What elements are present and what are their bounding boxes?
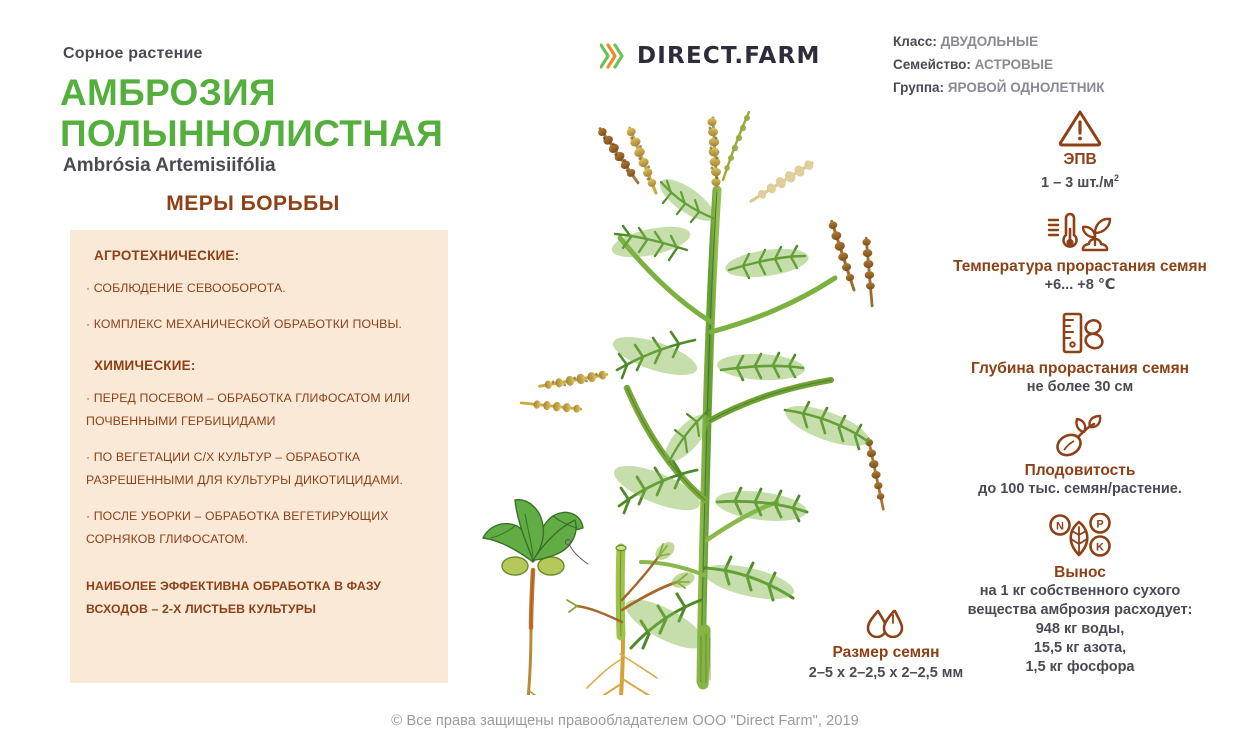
ruler-seeds-icon [1049,311,1111,357]
fact-label: Глубина прорастания семян [930,359,1230,378]
classification-value: ЯРОВОЙ ОДНОЛЕТНИК [948,80,1105,95]
fact-label: Температура прорастания семян [930,257,1230,276]
fact-value: до 100 тыс. семян/растение. [930,480,1230,499]
fact-label: Плодовитость [930,461,1230,480]
fact-value-superscript: 2 [1114,173,1119,183]
left-column: Сорное растение АМБРОЗИЯ ПОЛЫННОЛИСТНАЯ … [0,0,470,749]
seed-drops-icon [863,608,909,638]
footer-text: Все права защищены правообладателем ООО … [406,713,858,729]
brand-logo-text: DIRECT.FARM [637,43,821,69]
infographic-page: Сорное растение АМБРОЗИЯ ПОЛЫННОЛИСТНАЯ … [0,0,1250,749]
measures-heading: МЕРЫ БОРЬБЫ [63,192,443,216]
agro-item: · КОМПЛЕКС МЕХАНИЧЕСКОЙ ОБРАБОТКИ ПОЧВЫ. [86,313,428,336]
classification-row-class: Класс: ДВУДОЛЬНЫЕ [893,30,1233,53]
fact-label: ЭПВ [930,150,1230,169]
fact-fertility: Плодовитость до 100 тыс. семян/растение. [930,413,1230,499]
svg-text:N: N [1056,520,1064,532]
fact-germination-depth: Глубина прорастания семян не более 30 см [930,311,1230,397]
fact-value-text: 1 – 3 шт./м [1041,175,1114,191]
fact-value-line: на 1 кг собственного сухого [930,582,1230,601]
chem-item: · ПЕРЕД ПОСЕВОМ – ОБРАБОТКА ГЛИФОСАТОМ И… [86,387,428,433]
fact-value: +6... +8 ℃ [930,276,1230,295]
chem-subtitle: ХИМИЧЕСКИЕ: [94,358,428,373]
chem-item: · ПО ВЕГЕТАЦИИ С/Х КУЛЬТУР – ОБРАБОТКА Р… [86,446,428,492]
chem-item: · ПОСЛЕ УБОРКИ – ОБРАБОТКА ВЕГЕТИРУЮЩИХ … [86,505,428,551]
agro-subtitle: АГРОТЕХНИЧЕСКИЕ: [94,248,428,263]
sprouting-seed-icon [1050,413,1110,459]
classification-block: Класс: ДВУДОЛЬНЫЕ Семейство: АСТРОВЫЕ Гр… [893,30,1233,99]
fact-germination-temperature: Температура прорастания семян +6... +8 ℃ [930,211,1230,295]
measures-note: НАИБОЛЕЕ ЭФФЕКТИВНА ОБРАБОТКА В ФАЗУ ВСХ… [86,575,428,621]
classification-value: АСТРОВЫЕ [975,57,1053,72]
copyright-icon: © [391,712,402,729]
classification-label: Класс: [893,34,937,49]
fact-value: не более 30 см [930,378,1230,397]
fact-value: 1 – 3 шт./м2 [930,169,1230,193]
fact-seed-size: Размер семян 2–5 x 2–2,5 x 2–2,5 мм [786,608,986,683]
footer-copyright: © Все права защищены правообладателем ОО… [0,712,1250,729]
control-measures-panel: АГРОТЕХНИЧЕСКИЕ: · СОБЛЮДЕНИЕ СЕВООБОРОТ… [70,230,448,683]
fact-epv: ЭПВ 1 – 3 шт./м2 [930,108,1230,193]
svg-text:P: P [1096,518,1103,530]
direct-farm-chevron-icon [600,42,626,70]
ambrosia-plant-illustration [455,70,925,695]
fact-label: Размер семян [786,643,986,663]
agro-item: · СОБЛЮДЕНИЕ СЕВООБОРОТА. [86,277,428,300]
page-kicker: Сорное растение [63,45,203,63]
fact-value: 2–5 x 2–2,5 x 2–2,5 мм [786,663,986,683]
warning-triangle-icon [1057,108,1103,148]
latin-name: Ambrósia Artemisiifólia [63,155,276,177]
classification-row-group: Группа: ЯРОВОЙ ОДНОЛЕТНИК [893,76,1233,99]
facts-column: ЭПВ 1 – 3 шт./м2 Температура прорастания… [930,108,1230,681]
brand-logo[interactable]: DIRECT.FARM [600,42,821,70]
svg-text:K: K [1096,541,1104,553]
thermometer-sprout-icon [1045,211,1115,255]
classification-value: ДВУДОЛЬНЫЕ [941,34,1039,49]
page-title: АМБРОЗИЯ ПОЛЫННОЛИСТНАЯ [60,72,480,154]
fact-label: Вынос [930,563,1230,582]
npk-leaf-icon: N P K [1047,513,1113,561]
classification-row-family: Семейство: АСТРОВЫЕ [893,53,1233,76]
